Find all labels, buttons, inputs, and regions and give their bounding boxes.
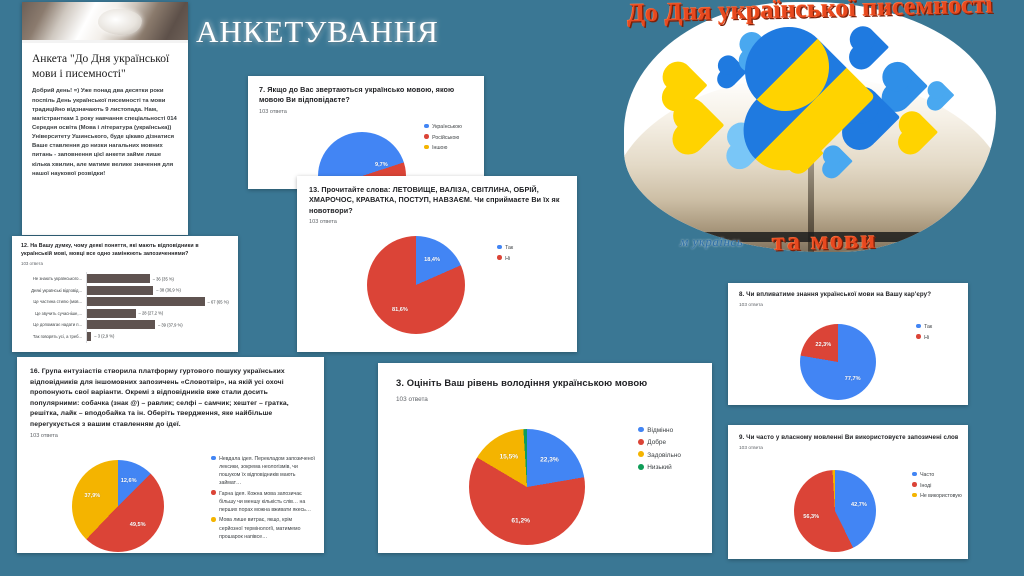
legend-color-swatch [211, 517, 216, 522]
bar-chart-row: Так говорять усі, а треб...3 (2,9 %) [22, 332, 230, 341]
bar-fill [86, 274, 150, 283]
chart-legend: ВідмінноДобреЗадовільноНизький [638, 426, 681, 476]
heart-icon [892, 72, 922, 101]
pie-slice-label: 22,3% [815, 342, 831, 348]
pie-slice-label: 15,5% [499, 454, 518, 461]
heart-icon [684, 110, 718, 142]
pie-chart: 42,7%56,3% [794, 470, 876, 552]
chart-title: 7. Якщо до Вас звертаються українсько мо… [259, 85, 473, 106]
heart-icon [907, 120, 933, 145]
bar-track: 39 (37,9 %) [86, 320, 230, 329]
bar-category-label: Це частина стилю (мов... [22, 299, 86, 304]
legend-item: Іншою [424, 144, 462, 152]
pie-slice-label: 77,7% [845, 376, 861, 382]
pie-slice-label: 9,7% [375, 162, 388, 168]
chart-card-q12[interactable]: 12. На Вашу думку, чому деякі поняття, я… [12, 236, 238, 352]
legend-item: Іноді [912, 482, 962, 490]
response-count: 103 ответа [259, 109, 473, 115]
bar-chart-row: Деякі українські відповід...38 (36,9 %) [22, 286, 230, 295]
pie-slice-label: 81,6% [392, 307, 408, 313]
legend-label: Ні [505, 255, 510, 263]
legend-label: Так [924, 323, 932, 331]
pie-chart: 12,6%49,5%37,9% [72, 460, 164, 552]
chart-card-q7[interactable]: 7. Якщо до Вас звертаються українсько мо… [248, 76, 484, 189]
heart-icon [858, 35, 884, 60]
chart-legend: ТакНі [497, 244, 513, 265]
chart-title: 12. На Вашу думку, чому деякі поняття, я… [21, 243, 229, 258]
legend-item: Відмінно [638, 426, 681, 436]
legend-item: Невдала ідея. Перекладом запозиченої лек… [211, 455, 316, 487]
page-title: АНКЕТУВАННЯ [196, 14, 439, 50]
bar-value-label: 36 (35 %) [150, 276, 174, 281]
pie-chart: 18,4%81,6% [367, 236, 465, 334]
bar-track: 28 (27,2 %) [86, 309, 230, 318]
pie-slice-label: 12,6% [121, 478, 137, 484]
legend-color-swatch [638, 439, 644, 445]
bar-value-label: 38 (36,9 %) [153, 288, 181, 293]
bar-fill [86, 309, 136, 318]
legend-label: Гарна ідея. Кожна мова запозичає більшу … [219, 490, 316, 514]
legend-item: Ні [497, 255, 513, 263]
survey-description-text: Добрий день! =) Уже понад два десятки ро… [32, 87, 178, 178]
response-count: 103 ответа [739, 303, 958, 308]
bar-track: 67 (65 %) [86, 297, 230, 306]
legend-label: Невдала ідея. Перекладом запозиченої лек… [219, 455, 316, 487]
legend-color-swatch [497, 255, 502, 260]
hero-title-line2: та мови [772, 225, 878, 258]
bar-category-label: Не знають українського... [22, 276, 86, 281]
legend-color-swatch [916, 334, 921, 339]
legend-item: Російською [424, 134, 462, 142]
chart-legend: Невдала ідея. Перекладом запозиченої лек… [211, 455, 316, 543]
bar-fill [86, 320, 155, 329]
pie-slice-label: 18,4% [424, 257, 440, 263]
legend-color-swatch [424, 124, 429, 129]
bar-track: 3 (2,9 %) [86, 332, 230, 341]
pie-slice-label: 49,5% [130, 522, 146, 528]
legend-item: Так [497, 244, 513, 252]
legend-label: Часто [920, 471, 934, 479]
chart-card-q9[interactable]: 9. Чи часто у власному мовленні Ви викор… [728, 425, 968, 559]
pie-chart: 77,7%22,3% [800, 324, 876, 400]
bar-chart: Не знають українського...36 (35 %)Деякі … [22, 274, 230, 344]
chart-title: 3. Оцініть Ваш рівень володіння українсь… [396, 376, 696, 390]
legend-item: Ні [916, 334, 932, 342]
legend-color-swatch [912, 472, 917, 477]
legend-color-swatch [424, 145, 429, 150]
legend-label: Ні [924, 334, 929, 342]
legend-color-swatch [211, 456, 216, 461]
legend-color-swatch [638, 451, 644, 457]
legend-item: Не використовую [912, 492, 962, 500]
pie-slice-label: 42,7% [851, 502, 867, 508]
chart-title: 9. Чи часто у власному мовленні Ви викор… [739, 434, 958, 443]
response-count: 103 ответа [21, 261, 229, 266]
heart-icon [933, 87, 951, 104]
chart-legend: УкраїнськоюРосійськоюІншою [424, 123, 462, 155]
legend-color-swatch [497, 245, 502, 250]
ukraine-flag-heart-icon [773, 57, 859, 139]
bar-value-label: 28 (27,2 %) [136, 311, 164, 316]
legend-label: Добре [647, 438, 666, 448]
survey-header-photo [22, 2, 188, 40]
chart-title: 16. Група ентузіастів створила платформу… [30, 367, 312, 430]
survey-heading: Анкета "До Дня української мови і писемн… [32, 52, 178, 81]
legend-item: Часто [912, 471, 962, 479]
survey-description: Добрий день! =) Уже понад два десятки ро… [32, 87, 178, 178]
legend-label: Низький [647, 463, 671, 473]
pie-slice-label: 37,9% [84, 493, 100, 499]
chart-title: 13. Прочитайте слова: ЛЕТОВИЩЕ, ВАЛІЗА, … [309, 185, 565, 216]
legend-item: Українською [424, 123, 462, 131]
response-count: 103 ответа [309, 219, 565, 225]
legend-item: Так [916, 323, 932, 331]
survey-intro-card[interactable]: Анкета "До Дня української мови і писемн… [22, 2, 188, 235]
response-count: 103 ответа [30, 433, 312, 439]
bar-track: 38 (36,9 %) [86, 286, 230, 295]
pie-slice-label: 61,2% [511, 518, 530, 525]
legend-color-swatch [638, 464, 644, 470]
pie-slice-label: 56,3% [803, 514, 819, 520]
legend-color-swatch [638, 427, 644, 433]
legend-label: Не використовую [920, 492, 962, 500]
pie-slice-label: 22,3% [540, 457, 559, 464]
pie-chart: 22,3%61,2%15,5% [469, 429, 585, 545]
bar-fill [86, 286, 153, 295]
bar-category-label: Це допомагає надати п... [22, 322, 86, 327]
legend-item: Гарна ідея. Кожна мова запозичає більшу … [211, 490, 316, 514]
bar-value-label: 67 (65 %) [205, 299, 229, 304]
chart-card-q3[interactable]: 3. Оцініть Ваш рівень володіння українсь… [378, 363, 712, 553]
bar-value-label: 3 (2,9 %) [91, 334, 114, 339]
chart-card-q13[interactable]: 13. Прочитайте слова: ЛЕТОВИЩЕ, ВАЛІЗА, … [297, 176, 577, 352]
chart-card-q16[interactable]: 16. Група ентузіастів створила платформу… [17, 357, 324, 553]
legend-color-swatch [916, 324, 921, 329]
bar-value-label: 39 (37,9 %) [155, 322, 183, 327]
legend-label: Російською [432, 134, 459, 142]
chart-legend: ЧастоІнодіНе використовую [912, 471, 962, 503]
hero-script-overlay: м українсь [680, 234, 743, 250]
heart-icon [829, 152, 849, 171]
bar-category-label: Деякі українські відповід... [22, 288, 86, 293]
bar-category-label: Це звучить сучасніше,... [22, 311, 86, 316]
legend-item: Мова лише витрає, якщо, крім серйозної т… [211, 516, 316, 540]
legend-item: Добре [638, 438, 681, 448]
hero-artwork: м українсь До Дня української писемності… [592, 0, 1024, 264]
bar-category-label: Так говорять усі, а треб... [22, 334, 86, 339]
slide-canvas: АНКЕТУВАННЯ м українсь До Дня українсько… [0, 0, 1024, 576]
legend-color-swatch [211, 490, 216, 495]
legend-label: Українською [432, 123, 462, 131]
bar-fill [86, 297, 205, 306]
chart-title: 8. Чи впливатиме знання української мови… [739, 291, 958, 300]
legend-color-swatch [912, 482, 917, 487]
legend-label: Іноді [920, 482, 931, 490]
legend-label: Задовільно [647, 451, 681, 461]
hero-title-line1: До Дня української писемності [596, 0, 1024, 28]
chart-legend: ТакНі [916, 323, 932, 344]
legend-label: Іншою [432, 144, 447, 152]
legend-item: Низький [638, 463, 681, 473]
legend-label: Мова лише витрає, якщо, крім серйозної т… [219, 516, 316, 540]
bar-track: 36 (35 %) [86, 274, 230, 283]
heart-icon [672, 72, 702, 100]
legend-color-swatch [424, 134, 429, 139]
response-count: 103 ответа [396, 396, 696, 403]
bar-chart-row: Це частина стилю (мов...67 (65 %) [22, 297, 230, 306]
response-count: 103 ответа [739, 446, 958, 451]
bar-chart-row: Це звучить сучасніше,...28 (27,2 %) [22, 309, 230, 318]
legend-label: Так [505, 244, 513, 252]
bar-chart-row: Це допомагає надати п...39 (37,9 %) [22, 320, 230, 329]
legend-color-swatch [912, 493, 917, 498]
legend-item: Задовільно [638, 451, 681, 461]
chart-card-q8[interactable]: 8. Чи впливатиме знання української мови… [728, 283, 968, 405]
bar-chart-row: Не знають українського...36 (35 %) [22, 274, 230, 283]
legend-label: Відмінно [647, 426, 673, 436]
